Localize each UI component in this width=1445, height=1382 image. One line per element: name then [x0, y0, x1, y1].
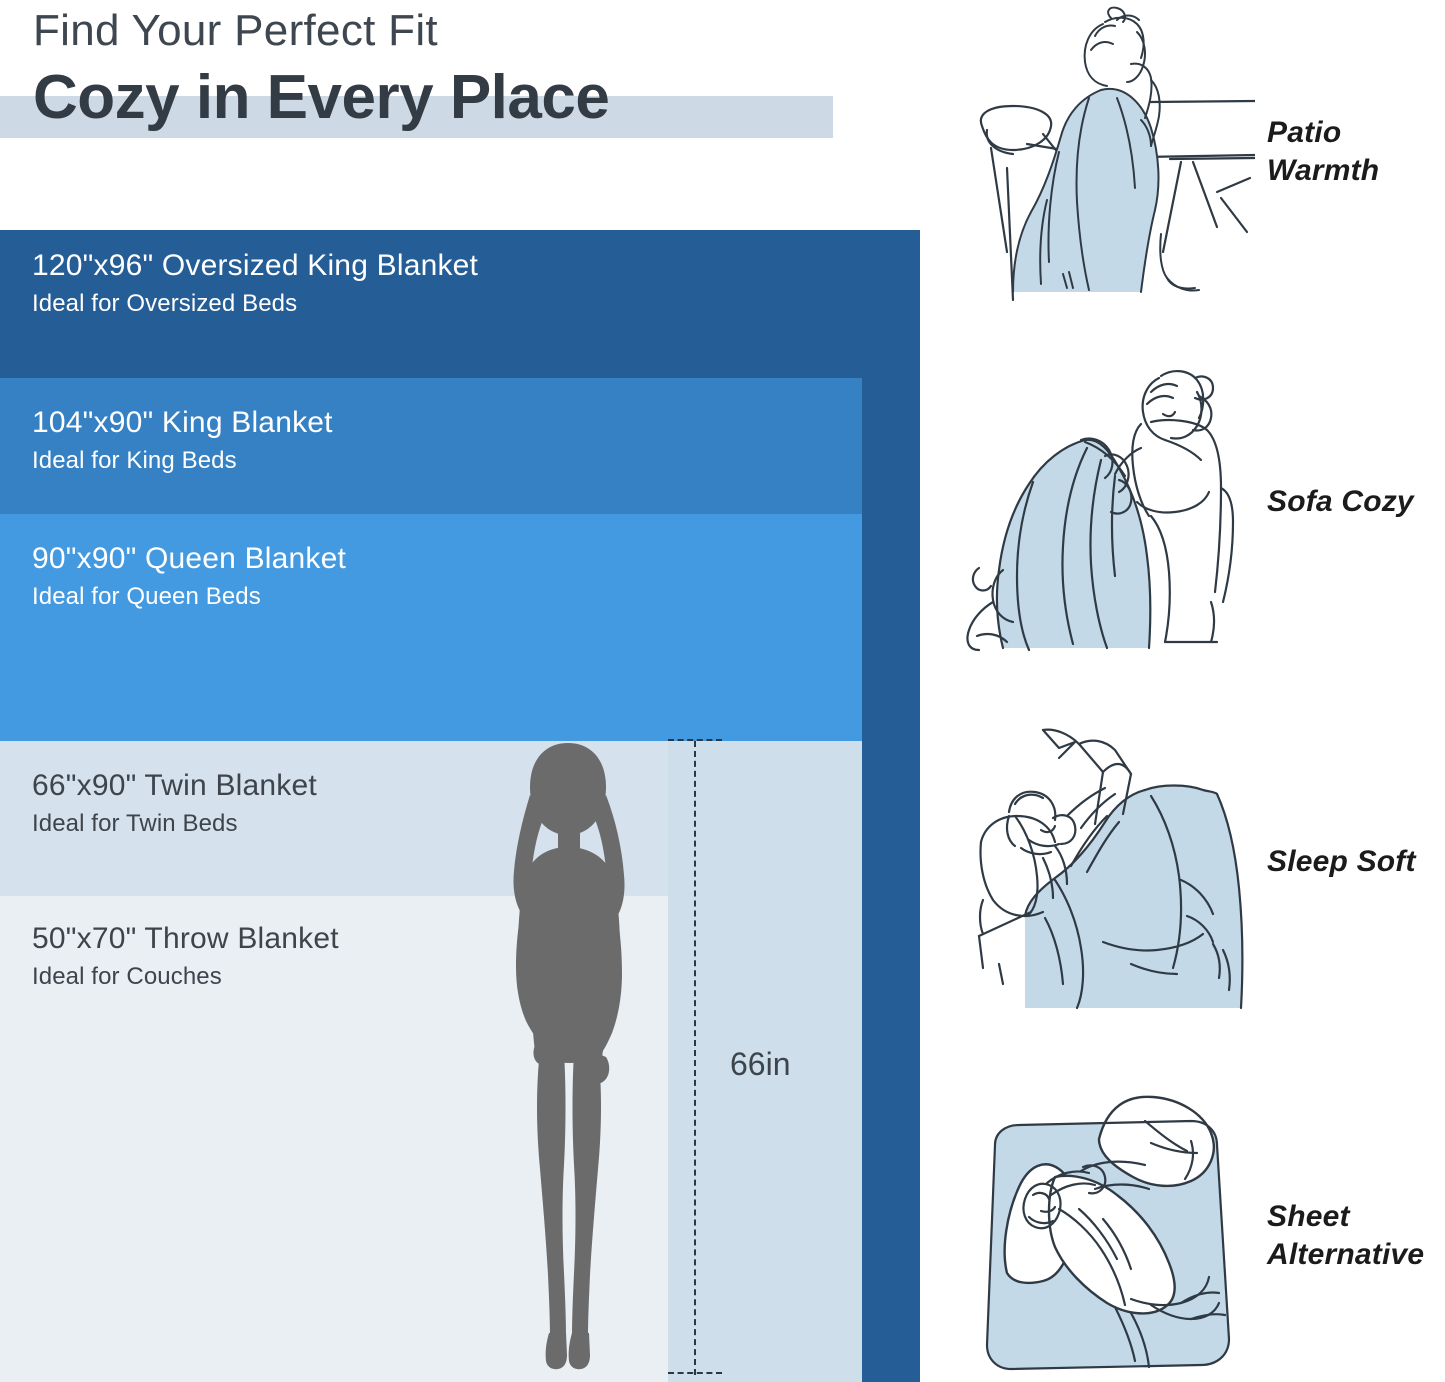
scene-sofa-cozy: Sofa Cozy	[955, 352, 1445, 652]
height-reference-label: 66in	[730, 1046, 791, 1083]
sofa-armchair-illustration	[955, 352, 1255, 652]
measure-dashed-line	[694, 741, 696, 1375]
scene-sheet-alternative: SheetAlternative	[955, 1090, 1445, 1382]
scene-label: PatioWarmth	[1255, 114, 1379, 191]
size-title: 90"x90" Queen Blanket	[32, 541, 346, 576]
use-case-scenes: PatioWarmth	[955, 0, 1445, 1382]
blanket-fill	[1025, 787, 1242, 1008]
size-label-oversized-king: 120"x96" Oversized King Blanket Ideal fo…	[32, 248, 478, 319]
size-subtitle: Ideal for Oversized Beds	[32, 290, 478, 318]
size-subtitle: Ideal for Couches	[32, 963, 339, 991]
human-silhouette	[470, 735, 680, 1375]
size-label-queen: 90"x90" Queen Blanket Ideal for Queen Be…	[32, 541, 346, 612]
bed-reading-illustration	[955, 712, 1255, 1012]
scene-label: SheetAlternative	[1255, 1198, 1424, 1275]
blanket-fill	[1013, 89, 1158, 292]
size-label-king: 104"x90" King Blanket Ideal for King Bed…	[32, 405, 333, 476]
size-title: 66"x90" Twin Blanket	[32, 768, 317, 803]
patio-chair-illustration	[955, 2, 1255, 302]
blanket-size-chart: 120"x96" Oversized King Blanket Ideal fo…	[0, 0, 940, 1382]
size-label-throw: 50"x70" Throw Blanket Ideal for Couches	[32, 921, 339, 992]
size-title: 120"x96" Oversized King Blanket	[32, 248, 478, 283]
infographic-page: Find Your Perfect Fit Cozy in Every Plac…	[0, 0, 1445, 1382]
scene-sleep-soft: Sleep Soft	[955, 712, 1445, 1012]
scene-label: Sleep Soft	[1255, 843, 1416, 881]
size-title: 50"x70" Throw Blanket	[32, 921, 339, 956]
scene-label: Sofa Cozy	[1255, 483, 1414, 521]
fitted-sheet-bed-illustration	[955, 1091, 1255, 1381]
size-title: 104"x90" King Blanket	[32, 405, 333, 440]
size-subtitle: Ideal for Twin Beds	[32, 810, 317, 838]
size-label-twin: 66"x90" Twin Blanket Ideal for Twin Beds	[32, 768, 317, 839]
size-subtitle: Ideal for King Beds	[32, 447, 333, 475]
size-subtitle: Ideal for Queen Beds	[32, 583, 346, 611]
scene-patio-warmth: PatioWarmth	[955, 2, 1445, 302]
